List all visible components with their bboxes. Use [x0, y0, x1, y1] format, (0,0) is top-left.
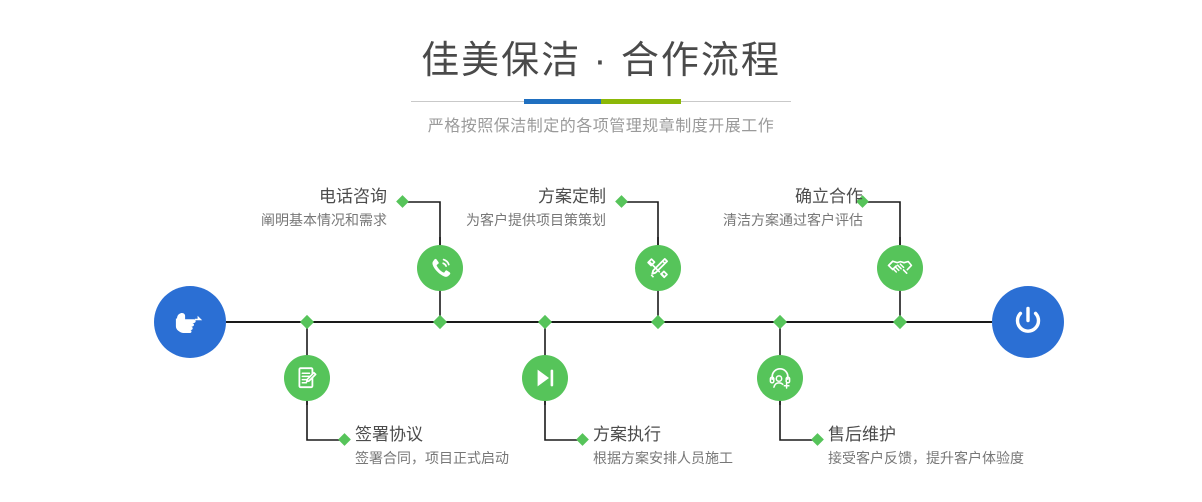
step-1-label: 电话咨询 阐明基本情况和需求 — [261, 186, 387, 230]
step-3-label: 方案定制 为客户提供项目策策划 — [466, 186, 606, 230]
cooperation-flow-infographic: 佳美保洁 · 合作流程 严格按照保洁制定的各项管理规章制度开展工作 — [0, 0, 1202, 502]
power-icon — [1008, 302, 1048, 342]
axis-diamond-1 — [433, 315, 447, 329]
axis-diamond-2 — [300, 315, 314, 329]
step-3-desc: 为客户提供项目策策划 — [466, 210, 606, 230]
axis-diamond-3 — [651, 315, 665, 329]
step-2-node[interactable] — [284, 355, 330, 401]
pointing-hand-icon — [170, 302, 210, 342]
handshake-icon — [886, 254, 914, 282]
step-1-desc: 阐明基本情况和需求 — [261, 210, 387, 230]
label-diamond-1 — [396, 195, 409, 208]
axis-diamond-5 — [893, 315, 907, 329]
step-6-desc: 接受客户反馈，提升客户体验度 — [828, 448, 1024, 468]
document-edit-icon — [294, 365, 320, 391]
label-diamond-6 — [811, 433, 824, 446]
play-skip-icon — [532, 365, 558, 391]
step-5-label: 确立合作 清洁方案通过客户评估 — [723, 186, 863, 230]
step-3-title: 方案定制 — [466, 186, 606, 208]
step-4-label: 方案执行 根据方案安排人员施工 — [593, 424, 733, 468]
label-diamond-2 — [338, 433, 351, 446]
step-6-title: 售后维护 — [828, 424, 1024, 446]
step-2-label: 签署协议 签署合同，项目正式启动 — [355, 424, 509, 468]
step-6-label: 售后维护 接受客户反馈，提升客户体验度 — [828, 424, 1024, 468]
step-3-node[interactable] — [635, 245, 681, 291]
phone-call-icon — [427, 255, 453, 281]
step-5-title: 确立合作 — [723, 186, 863, 208]
step-4-desc: 根据方案安排人员施工 — [593, 448, 733, 468]
customer-service-icon — [767, 365, 793, 391]
step-4-node[interactable] — [522, 355, 568, 401]
step-5-node[interactable] — [877, 245, 923, 291]
step-5-desc: 清洁方案通过客户评估 — [723, 210, 863, 230]
step-2-desc: 签署合同，项目正式启动 — [355, 448, 509, 468]
step-2-title: 签署协议 — [355, 424, 509, 446]
flow-start-endpoint[interactable] — [154, 286, 226, 358]
pencil-ruler-icon — [645, 255, 671, 281]
step-1-title: 电话咨询 — [261, 186, 387, 208]
label-diamond-4 — [576, 433, 589, 446]
step-4-title: 方案执行 — [593, 424, 733, 446]
step-6-node[interactable] — [757, 355, 803, 401]
axis-diamond-4 — [538, 315, 552, 329]
step-1-node[interactable] — [417, 245, 463, 291]
axis-diamond-6 — [773, 315, 787, 329]
flow-end-endpoint[interactable] — [992, 286, 1064, 358]
label-diamond-3 — [615, 195, 628, 208]
